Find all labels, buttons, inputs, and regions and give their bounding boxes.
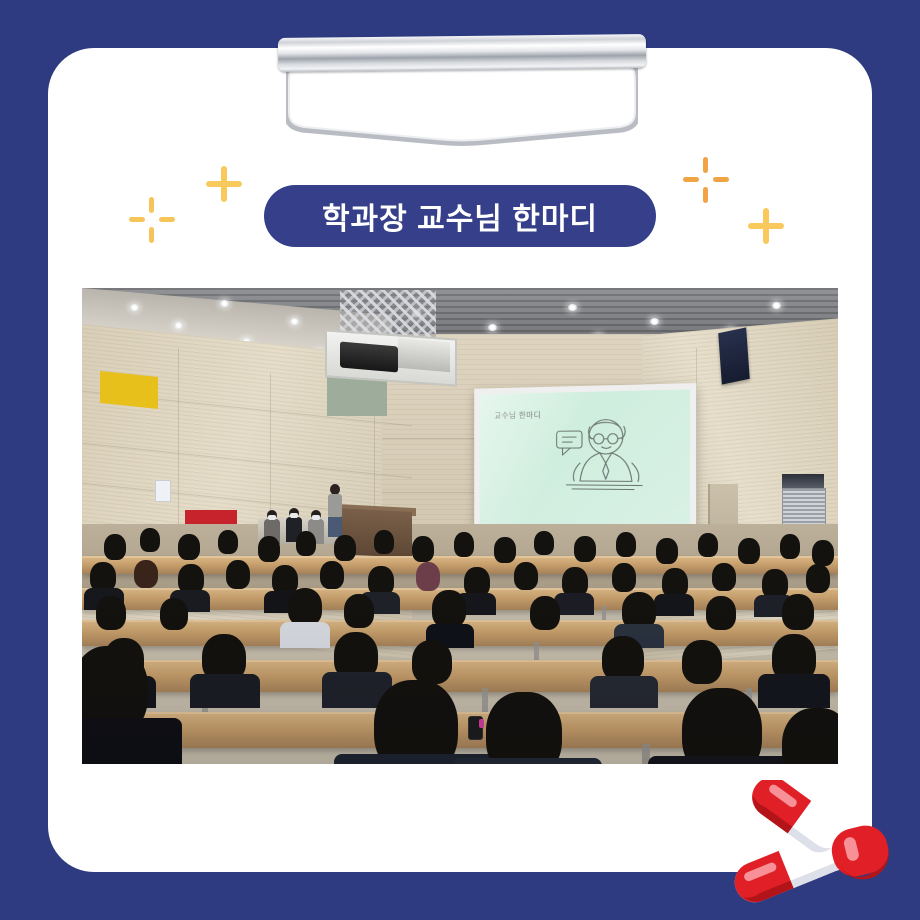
lecture-hall-photo: 교수님 한마디 — [82, 288, 838, 764]
smartphone — [468, 716, 483, 740]
projection-screen: 교수님 한마디 — [474, 383, 696, 535]
capsule-pills-illustration — [724, 780, 904, 910]
projection-screen-surface: 교수님 한마디 — [480, 389, 690, 528]
page-title: 학과장 교수님 한마디 — [322, 194, 598, 238]
projector-body — [398, 338, 450, 373]
sparkle-plus-left-icon — [206, 166, 242, 202]
sparkle-burst-left-icon — [129, 197, 175, 243]
yellow-wall-panel — [100, 371, 158, 409]
sparkle-burst-right-icon — [683, 157, 729, 203]
projector-lens — [340, 341, 398, 372]
wall-sign — [155, 480, 171, 502]
ceiling-speaker — [718, 327, 750, 384]
sparkle-plus-right-icon — [748, 208, 784, 244]
slide-title-text: 교수님 한마디 — [494, 410, 541, 421]
poster-canvas: 학과장 교수님 한마디 — [0, 0, 920, 920]
professor-line-art-icon — [545, 412, 652, 500]
presenter-standing — [326, 484, 344, 542]
title-banner: 학과장 교수님 한마디 — [264, 185, 656, 247]
